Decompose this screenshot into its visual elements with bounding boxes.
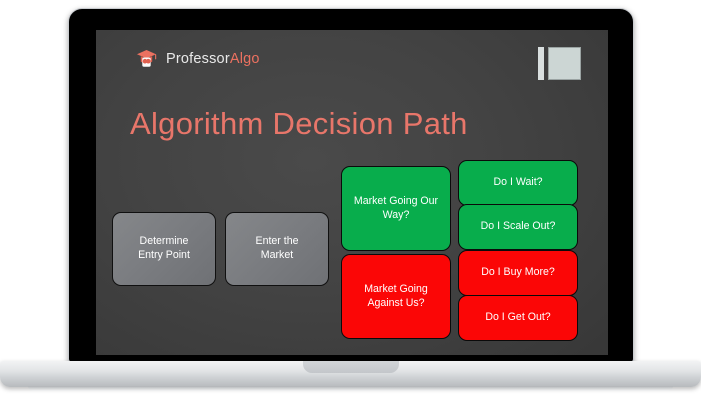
node-do-i-wait[interactable]: Do I Wait? — [458, 160, 578, 206]
node-do-i-get-out[interactable]: Do I Get Out? — [458, 295, 578, 341]
slide-canvas: ProfessorAlgo Algorithm Decision Path De… — [96, 30, 608, 355]
laptop-base-foot — [28, 386, 673, 391]
layout-content-shape — [548, 47, 581, 80]
laptop-mockup: ProfessorAlgo Algorithm Decision Path De… — [0, 0, 701, 405]
brand-logo: ProfessorAlgo — [134, 46, 260, 71]
node-do-i-buy-more[interactable]: Do I Buy More? — [458, 250, 578, 296]
slide-layout-icon — [538, 47, 581, 80]
brand-name-algo: Algo — [230, 51, 260, 67]
node-enter-the-market[interactable]: Enter theMarket — [225, 212, 329, 286]
node-market-going-our-way[interactable]: Market Going Our Way? — [341, 166, 451, 251]
layout-sidebar-shape — [538, 47, 544, 80]
brand-name: ProfessorAlgo — [166, 51, 260, 67]
laptop-lid: ProfessorAlgo Algorithm Decision Path De… — [68, 8, 634, 363]
node-market-going-against-us[interactable]: Market Going Against Us? — [341, 254, 451, 339]
page-title: Algorithm Decision Path — [130, 106, 468, 142]
laptop-base-notch — [303, 361, 399, 373]
node-do-i-scale-out[interactable]: Do I Scale Out? — [458, 204, 578, 250]
brand-name-professor: Professor — [166, 51, 230, 67]
node-determine-entry-point[interactable]: DetermineEntry Point — [112, 212, 216, 286]
node-label: Enter theMarket — [256, 235, 299, 262]
graduation-cap-icon — [134, 46, 159, 71]
node-label: DetermineEntry Point — [138, 235, 190, 262]
